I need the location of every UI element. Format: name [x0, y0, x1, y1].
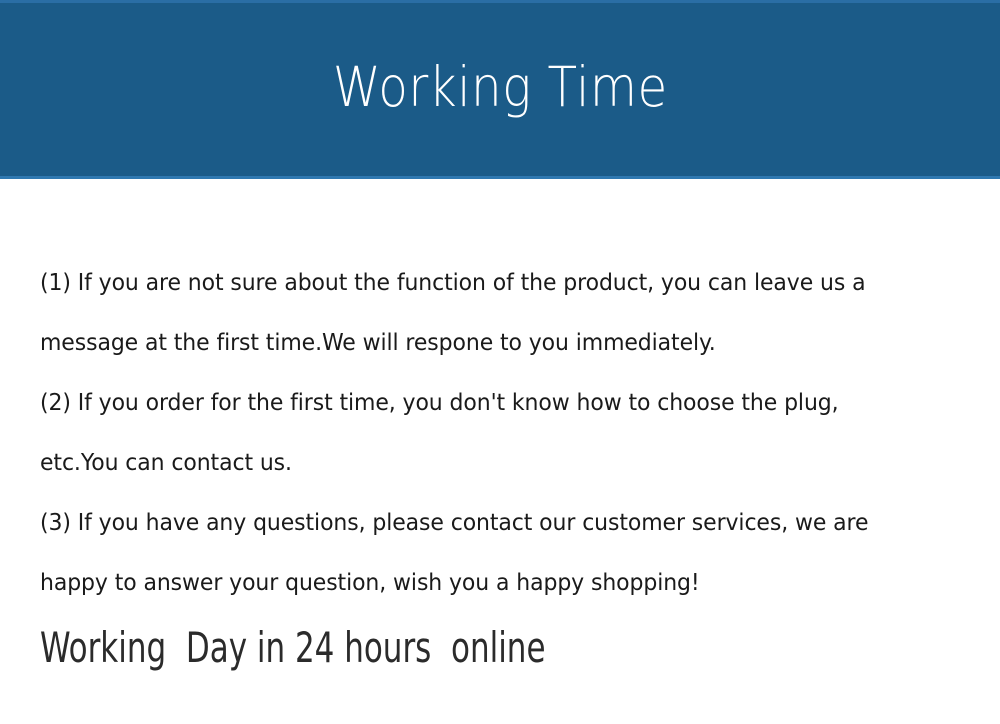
page-title: Working Time	[333, 60, 668, 119]
banner-header: Working Time	[0, 0, 1000, 179]
policy-line: message at the first time.We will respon…	[40, 312, 910, 372]
policy-line: (3) If you have any questions, please co…	[40, 492, 910, 552]
policy-text-block: (1) If you are not sure about the functi…	[40, 252, 970, 612]
closing-block: Working Day in 24 hours online	[40, 620, 970, 676]
policy-line: etc.You can contact us.	[40, 432, 910, 492]
policy-line: happy to answer your question, wish you …	[40, 552, 910, 612]
policy-line: (2) If you order for the first time, you…	[40, 372, 910, 432]
policy-line: (1) If you are not sure about the functi…	[40, 252, 910, 312]
working-hours-headline: Working Day in 24 hours online	[40, 620, 803, 676]
working-time-info-panel: Working Time (1) If you are not sure abo…	[0, 0, 1000, 724]
